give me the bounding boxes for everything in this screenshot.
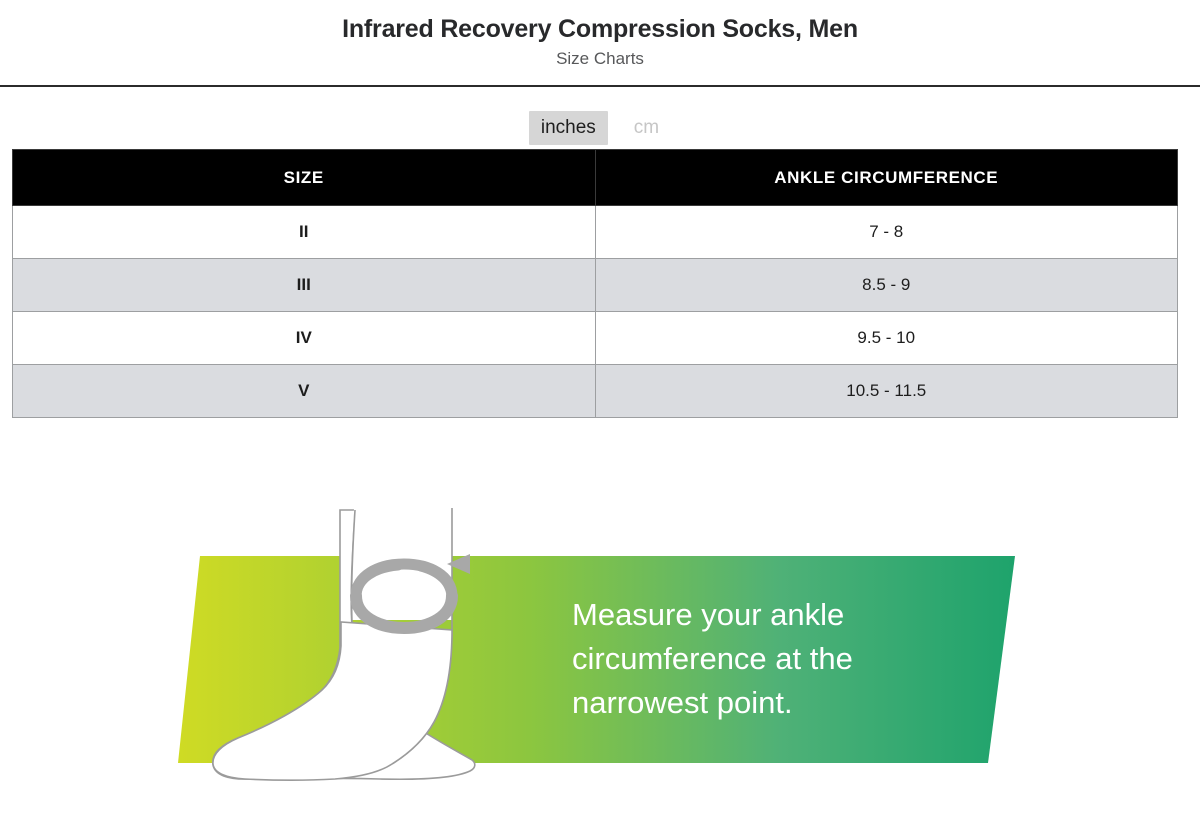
caption-line-2: circumference at the — [572, 641, 853, 676]
size-chart-table: SIZE ANKLE CIRCUMFERENCE II 7 - 8 III 8.… — [12, 149, 1178, 418]
table-body: II 7 - 8 III 8.5 - 9 IV 9.5 - 10 V 10.5 … — [13, 206, 1178, 418]
cell-ankle-circumference: 10.5 - 11.5 — [595, 365, 1178, 418]
caption-line-1: Measure your ankle — [572, 597, 844, 632]
cell-ankle-circumference: 7 - 8 — [595, 206, 1178, 259]
cell-ankle-circumference: 8.5 - 9 — [595, 259, 1178, 312]
cell-ankle-circumference: 9.5 - 10 — [595, 312, 1178, 365]
table-header: SIZE ANKLE CIRCUMFERENCE — [13, 150, 1178, 206]
header-divider — [0, 85, 1200, 87]
unit-tab-inches[interactable]: inches — [529, 111, 608, 145]
cell-size: II — [13, 206, 596, 259]
column-header-size: SIZE — [13, 150, 596, 206]
table-header-row: SIZE ANKLE CIRCUMFERENCE — [13, 150, 1178, 206]
table-row: III 8.5 - 9 — [13, 259, 1178, 312]
table-row: II 7 - 8 — [13, 206, 1178, 259]
unit-toggle: inches cm — [0, 111, 1200, 145]
page-subtitle: Size Charts — [0, 44, 1200, 69]
cell-size: IV — [13, 312, 596, 365]
cell-size: V — [13, 365, 596, 418]
measurement-illustration: Measure your ankle circumference at the … — [0, 470, 1200, 831]
table-row: IV 9.5 - 10 — [13, 312, 1178, 365]
unit-tab-cm[interactable]: cm — [622, 111, 671, 145]
table-row: V 10.5 - 11.5 — [13, 365, 1178, 418]
illustration-svg: Measure your ankle circumference at the … — [0, 470, 1200, 831]
column-header-ankle-circumference: ANKLE CIRCUMFERENCE — [595, 150, 1178, 206]
cell-size: III — [13, 259, 596, 312]
page-title: Infrared Recovery Compression Socks, Men — [0, 0, 1200, 44]
caption-line-3: narrowest point. — [572, 685, 793, 720]
page-header: Infrared Recovery Compression Socks, Men… — [0, 0, 1200, 86]
